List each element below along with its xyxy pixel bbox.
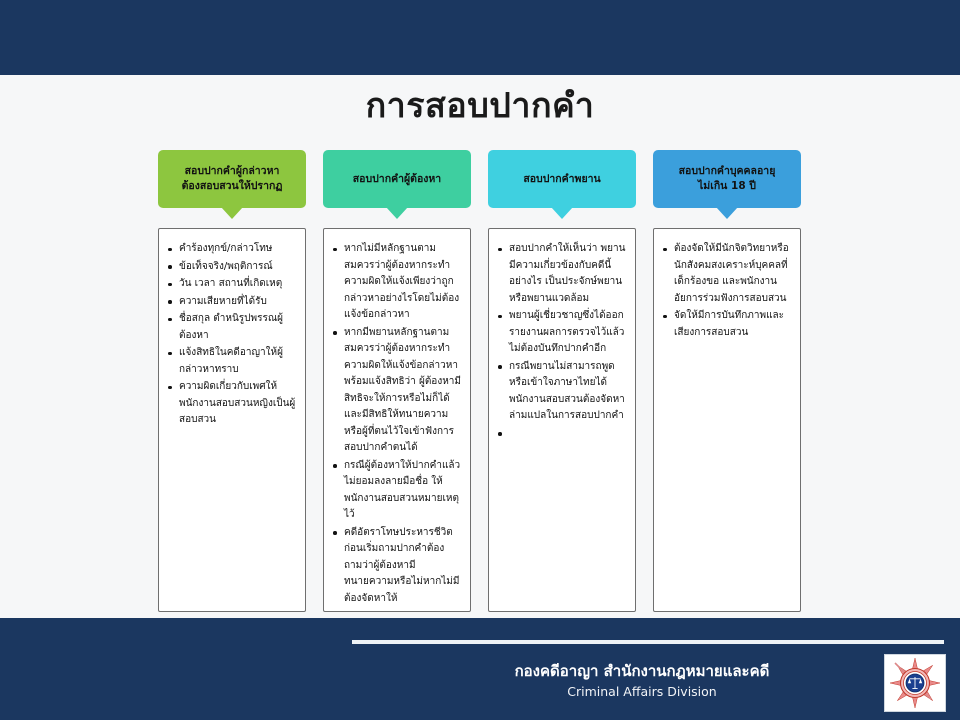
column-card-minor: ต้องจัดให้มีนักจิตวิทยาหรือนักสังคมสงเคร… [653, 228, 801, 612]
list-item: สอบปากคำให้เห็นว่า พยานมีความเกี่ยวข้องก… [495, 241, 627, 307]
bullet-list: สอบปากคำให้เห็นว่า พยานมีความเกี่ยวข้องก… [495, 241, 627, 442]
list-item: พยานผู้เชี่ยวชาญซึ่งได้ออกรายงานผลการตรว… [495, 308, 627, 358]
seal-icon [887, 656, 943, 710]
organization-name-en: Criminal Affairs Division [432, 682, 852, 701]
list-item: หากมีพยานหลักฐานตามสมควรว่าผู้ต้องหากระท… [330, 325, 462, 457]
bullet-list: ต้องจัดให้มีนักจิตวิทยาหรือนักสังคมสงเคร… [660, 241, 792, 341]
column-minor: สอบปากคำบุคคลอายุ ไม่เกิน 18 ปี ต้องจัดใ… [653, 150, 801, 612]
column-witness: สอบปากคำพยาน สอบปากคำให้เห็นว่า พยานมีคว… [488, 150, 636, 612]
column-header-witness[interactable]: สอบปากคำพยาน [488, 150, 636, 208]
header-band [0, 0, 960, 75]
column-group: สอบปากคำผู้กล่าวหา ต้องสอบสวนให้ปรากฏ คำ… [158, 150, 804, 612]
list-item: จัดให้มีการบันทึกภาพและเสียงการสอบสวน [660, 308, 792, 341]
organization-logo [884, 654, 946, 712]
column-header-accuser[interactable]: สอบปากคำผู้กล่าวหา ต้องสอบสวนให้ปรากฏ [158, 150, 306, 208]
bullet-list: คำร้องทุกข์/กล่าวโทษ ข้อเท็จจริง/พฤติการ… [165, 241, 297, 429]
list-item: กรณีผู้ต้องหาให้ปากคำแล้วไม่ยอมลงลายมือช… [330, 458, 462, 524]
list-item: หากไม่มีหลักฐานตามสมควรว่าผู้ต้องหากระทำ… [330, 241, 462, 324]
bullet-list: หากไม่มีหลักฐานตามสมควรว่าผู้ต้องหากระทำ… [330, 241, 462, 607]
column-header-minor[interactable]: สอบปากคำบุคคลอายุ ไม่เกิน 18 ปี [653, 150, 801, 208]
list-item: คำร้องทุกข์/กล่าวโทษ [165, 241, 297, 258]
pointer-tail-icon [221, 207, 243, 219]
list-item: ข้อเท็จจริง/พฤติการณ์ [165, 259, 297, 276]
column-header-suspect[interactable]: สอบปากคำผู้ต้องหา [323, 150, 471, 208]
column-accuser: สอบปากคำผู้กล่าวหา ต้องสอบสวนให้ปรากฏ คำ… [158, 150, 306, 612]
footer-divider [352, 640, 944, 644]
footer-credits: กองคดีอาญา สำนักงานกฎหมายและคดี Criminal… [432, 660, 852, 701]
column-header-text: สอบปากคำบุคคลอายุ ไม่เกิน 18 ปี [679, 164, 776, 194]
list-item: ความเสียหายที่ได้รับ [165, 294, 297, 311]
pointer-tail-icon [551, 207, 573, 219]
list-item: ชื่อสกุล ตำหนิรูปพรรณผู้ต้องหา [165, 311, 297, 344]
pointer-tail-icon [716, 207, 738, 219]
column-card-suspect: หากไม่มีหลักฐานตามสมควรว่าผู้ต้องหากระทำ… [323, 228, 471, 612]
column-card-witness: สอบปากคำให้เห็นว่า พยานมีความเกี่ยวข้องก… [488, 228, 636, 612]
list-item: แจ้งสิทธิในคดีอาญาให้ผู้กล่าวหาทราบ [165, 345, 297, 378]
organization-name-th: กองคดีอาญา สำนักงานกฎหมายและคดี [432, 660, 852, 682]
column-card-accuser: คำร้องทุกข์/กล่าวโทษ ข้อเท็จจริง/พฤติการ… [158, 228, 306, 612]
column-header-text: สอบปากคำพยาน [523, 172, 600, 187]
column-header-text: สอบปากคำผู้กล่าวหา ต้องสอบสวนให้ปรากฏ [182, 164, 283, 194]
column-suspect: สอบปากคำผู้ต้องหา หากไม่มีหลักฐานตามสมคว… [323, 150, 471, 612]
list-item: คดีอัตราโทษประหารชีวิต ก่อนเริ่มถามปากคำ… [330, 525, 462, 608]
pointer-tail-icon [386, 207, 408, 219]
list-item: ความผิดเกี่ยวกับเพศให้พนักงานสอบสวนหญิงเ… [165, 379, 297, 429]
column-header-text: สอบปากคำผู้ต้องหา [353, 172, 441, 187]
list-item: ต้องจัดให้มีนักจิตวิทยาหรือนักสังคมสงเคร… [660, 241, 792, 307]
page-title: การสอบปากคำ [0, 84, 960, 128]
slide-root: การสอบปากคำ สอบปากคำผู้กล่าวหา ต้องสอบสว… [0, 0, 960, 720]
list-item: กรณีพยานไม่สามารถพูดหรือเข้าใจภาษาไทยได้… [495, 359, 627, 425]
list-item-empty [495, 426, 627, 443]
list-item: วัน เวลา สถานที่เกิดเหตุ [165, 276, 297, 293]
